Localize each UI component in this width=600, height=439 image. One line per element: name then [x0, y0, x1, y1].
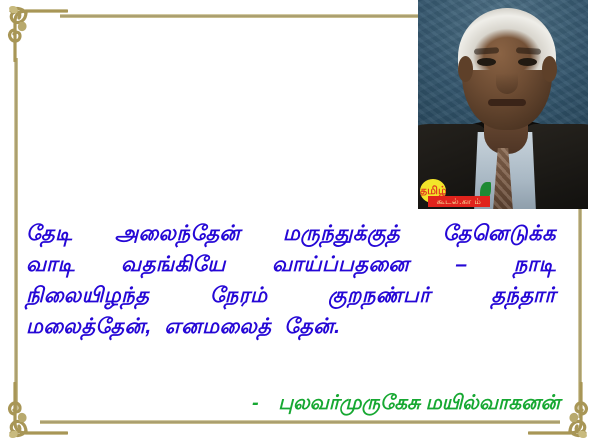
- verse-line-2: வாடி வதங்கியே வாய்ப்பதனை – நாடி: [26, 249, 556, 280]
- verse-word: நிலையிழந்த: [26, 280, 149, 311]
- verse-word: அலைந்தேன்: [115, 218, 241, 249]
- attribution-dash: -: [252, 392, 259, 414]
- portrait-ear-right: [542, 56, 557, 82]
- portrait-mouth: [488, 99, 526, 106]
- verse-word: தேன்.: [284, 315, 340, 338]
- verse-word: நாடி: [514, 249, 556, 280]
- attribution-author-name: புலவர்முருகேசு மயில்வாகனன்: [278, 392, 560, 414]
- portrait-ear-left: [458, 56, 473, 82]
- verse-word: தந்தார்: [491, 280, 556, 311]
- verse-word: மலைத்தேன்,: [26, 315, 152, 338]
- verse-line-1: தேடி அலைந்தேன் மருந்துக்குத் தேனெடுக்க: [26, 218, 556, 249]
- verse-word: வதங்கியே: [121, 249, 226, 280]
- verse-word: தேடி: [26, 218, 72, 249]
- attribution-line: - புலவர்முருகேசு மயில்வாகனன்: [0, 392, 560, 417]
- verse-block: தேடி அலைந்தேன் மருந்துக்குத் தேனெடுக்க வ…: [26, 218, 574, 342]
- watermark-logo: தமிழ் கூடல்.கா ம்: [420, 179, 492, 207]
- verse-word: நேரம்: [210, 280, 268, 311]
- portrait-photo: தமிழ் கூடல்.கா ம்: [418, 0, 588, 209]
- corner-ornament-top-left-icon: [6, 4, 68, 62]
- verse-word: குறநண்பர்: [328, 280, 431, 311]
- portrait-eye-right: [518, 58, 537, 66]
- verse-line-3: நிலையிழந்த நேரம் குறநண்பர் தந்தார்: [26, 280, 556, 311]
- verse-word: வாய்ப்பதனை: [272, 249, 409, 280]
- verse-card: தமிழ் கூடல்.கா ம் தேடி அலைந்தேன் மருந்து…: [0, 0, 600, 439]
- watermark-bar-text: கூடல்.கா ம்: [428, 196, 490, 207]
- verse-word: தேனெடுக்க: [443, 218, 556, 249]
- verse-word: மருந்துக்குத்: [283, 218, 400, 249]
- verse-word: எனமலைத்: [164, 315, 271, 338]
- verse-word: வாடி: [26, 249, 75, 280]
- portrait-eye-left: [477, 58, 496, 66]
- frame-bottom-line: [40, 420, 560, 424]
- frame-left-line: [14, 58, 18, 410]
- verse-dash: –: [455, 249, 467, 280]
- portrait-nose: [496, 64, 518, 94]
- verse-line-4: மலைத்தேன், எனமலைத் தேன்.: [26, 311, 574, 342]
